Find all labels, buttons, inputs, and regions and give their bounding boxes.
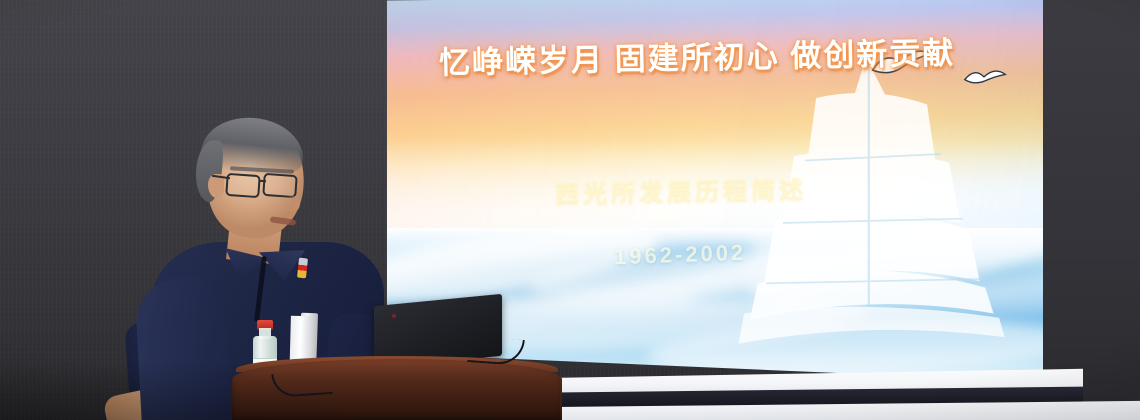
slide-subtitle: 西光所发展历程简述 bbox=[554, 170, 807, 209]
presentation-scene: 忆峥嵘岁月 固建所初心 做创新贡献 西光所发展历程简述 1962-2002 14… bbox=[0, 0, 1140, 420]
eyeglasses-left-lens bbox=[225, 173, 261, 198]
eyeglasses-right-lens bbox=[262, 173, 298, 198]
laptop-indicator-light bbox=[392, 314, 396, 318]
speaker-nose bbox=[286, 195, 301, 212]
slide-date-range: 1962-2002 bbox=[614, 240, 747, 271]
eyeglasses-bridge bbox=[259, 180, 266, 182]
wall-right-panel bbox=[1036, 0, 1140, 420]
floor-shadow bbox=[0, 360, 560, 420]
